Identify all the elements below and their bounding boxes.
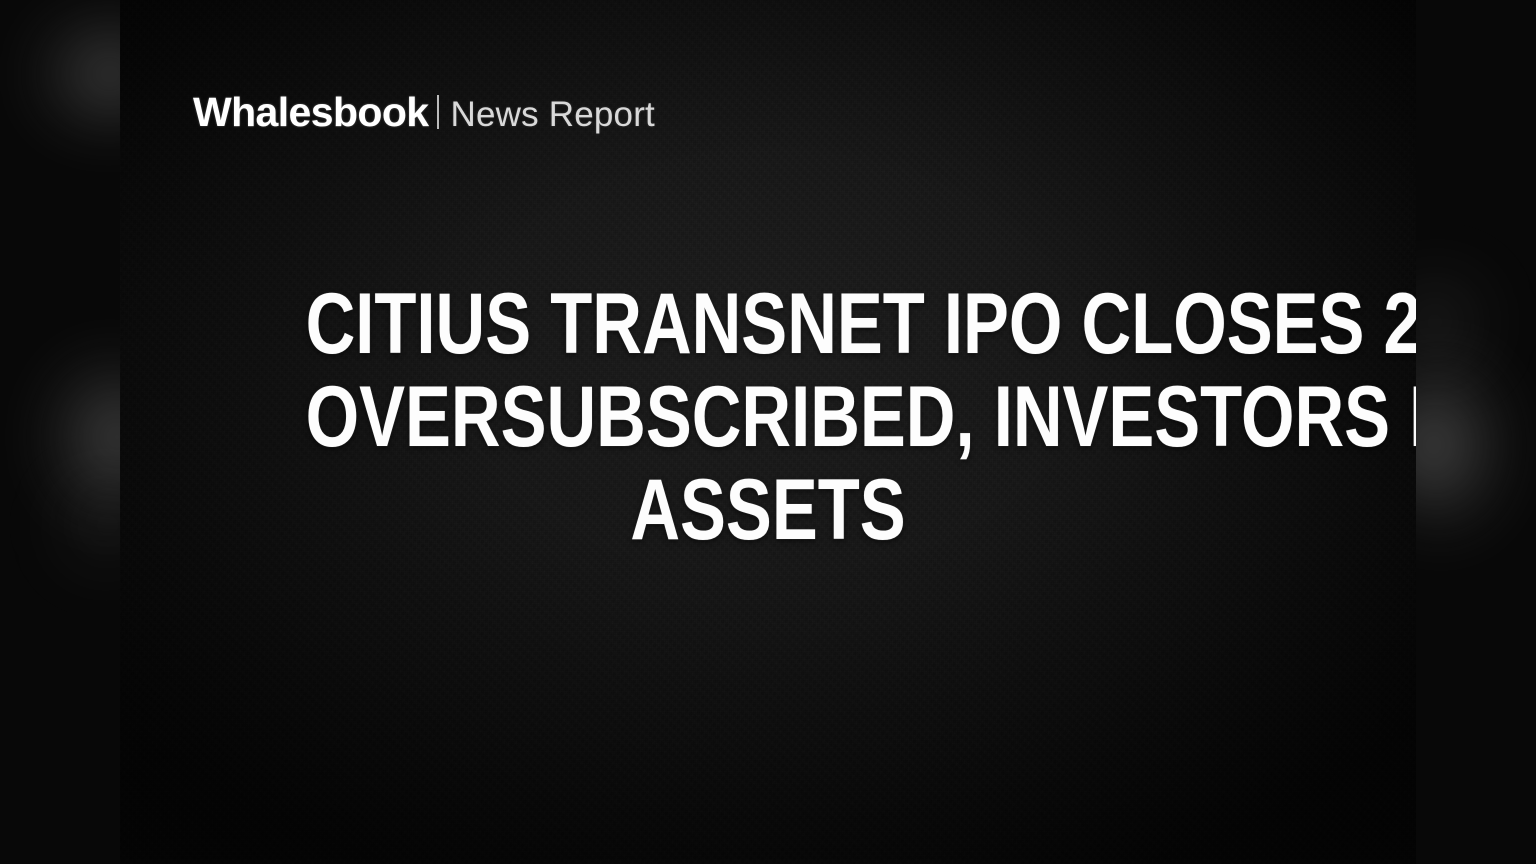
headline: CITIUS TRANSNET IPO CLOSES 20X OVERSUBSC… <box>120 278 1416 557</box>
news-card-stage: Whalesbook News Report CITIUS TRANSNET I… <box>0 0 1536 864</box>
brand-section-label: News Report <box>450 97 655 132</box>
headline-line-3: ASSETS <box>306 464 1231 557</box>
headline-line-1: CITIUS TRANSNET IPO CLOSES 20X <box>306 278 1231 371</box>
backdrop-glow-headline-right-upper <box>1402 262 1498 382</box>
brand-divider-icon <box>437 95 439 129</box>
brand-name: Whalesbook <box>193 92 428 133</box>
news-card: Whalesbook News Report CITIUS TRANSNET I… <box>120 0 1416 864</box>
brand-lockup: Whalesbook News Report <box>193 92 655 133</box>
headline-line-2: OVERSUBSCRIBED, INVESTORS EYE ROAD <box>306 371 1231 464</box>
